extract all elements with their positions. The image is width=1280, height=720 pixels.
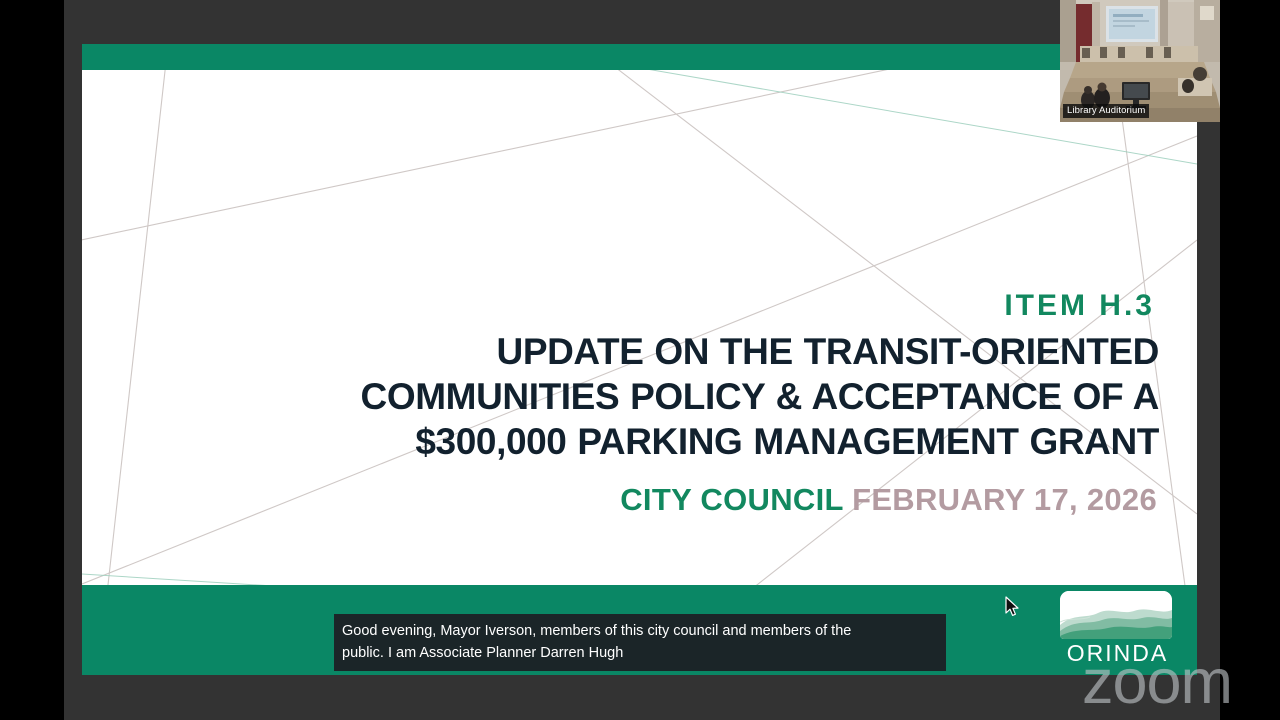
caption-line-1: Good evening, Mayor Iverson, members of … — [342, 620, 938, 642]
slide-title: UPDATE ON THE TRANSIT-ORIENTED COMMUNITI… — [122, 329, 1159, 464]
slide-subtitle-body: CITY COUNCIL — [620, 482, 843, 517]
slide-title-line-1: UPDATE ON THE TRANSIT-ORIENTED — [122, 329, 1159, 374]
slide-header-bar — [82, 44, 1197, 70]
caption-line-2: public. I am Associate Planner Darren Hu… — [342, 642, 938, 664]
slide-subtitle: CITY COUNCIL FEBRUARY 17, 2026 — [122, 483, 1159, 517]
slide-item-label: ITEM H.3 — [122, 289, 1159, 322]
participant-video-thumbnail[interactable]: Library Auditorium — [1060, 0, 1220, 122]
hills-logo-icon — [1060, 591, 1172, 639]
video-participant-label: Library Auditorium — [1063, 104, 1149, 118]
slide-subtitle-date: FEBRUARY 17, 2026 — [852, 482, 1157, 517]
letterbox-right — [1220, 0, 1280, 720]
zoom-watermark: zoom — [1082, 651, 1232, 714]
slide-title-line-3: $300,000 PARKING MANAGEMENT GRANT — [122, 419, 1159, 464]
slide-title-line-2: COMMUNITIES POLICY & ACCEPTANCE OF A — [122, 374, 1159, 419]
zoom-meeting-screen: ITEM H.3 UPDATE ON THE TRANSIT-ORIENTED … — [0, 0, 1280, 720]
shared-presentation-slide[interactable]: ITEM H.3 UPDATE ON THE TRANSIT-ORIENTED … — [82, 44, 1197, 675]
slide-text-block: ITEM H.3 UPDATE ON THE TRANSIT-ORIENTED … — [122, 289, 1159, 517]
hills-logo-svg — [1060, 591, 1172, 639]
letterbox-left — [0, 0, 64, 720]
live-caption-box[interactable]: Good evening, Mayor Iverson, members of … — [334, 614, 946, 671]
